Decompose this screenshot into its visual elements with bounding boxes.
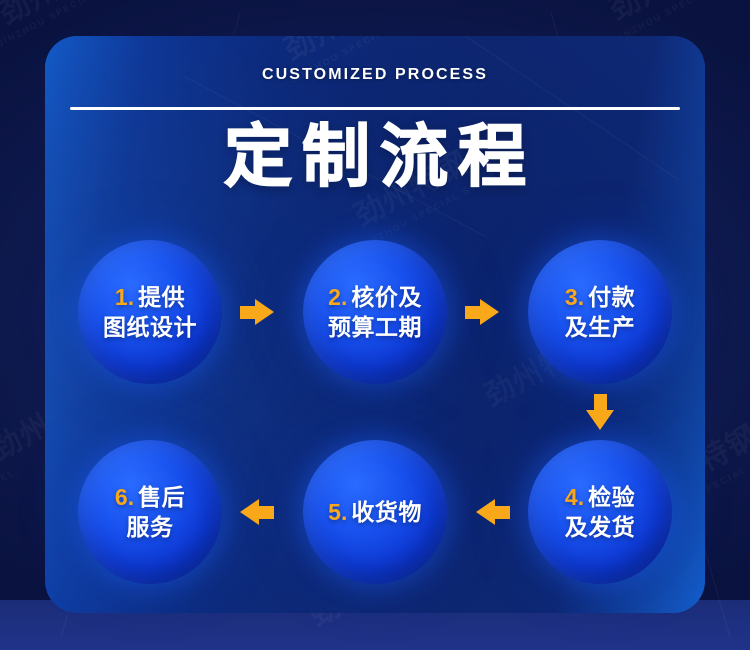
process-step-3[interactable]: 3.付款 及生产 bbox=[528, 240, 672, 384]
process-flow-diagram: 1.提供 图纸设计 2.核价及 预算工期 3.付款 及生产 4.检验 及发货 5… bbox=[0, 0, 750, 650]
step-number: 4. bbox=[565, 484, 584, 510]
process-step-2[interactable]: 2.核价及 预算工期 bbox=[303, 240, 447, 384]
arrow-shaft bbox=[493, 506, 510, 519]
step-line-2: 服务 bbox=[127, 512, 174, 542]
step-text: 核价及 bbox=[351, 284, 422, 310]
arrow-head bbox=[476, 499, 495, 525]
arrow-head bbox=[586, 410, 614, 430]
step-line-2: 图纸设计 bbox=[103, 312, 197, 342]
step-number: 5. bbox=[328, 499, 347, 525]
step-number: 2. bbox=[328, 284, 347, 310]
process-step-1[interactable]: 1.提供 图纸设计 bbox=[78, 240, 222, 384]
arrow-left-icon bbox=[476, 497, 510, 527]
arrow-head bbox=[255, 299, 274, 325]
arrow-right-icon bbox=[240, 297, 274, 327]
step-line-2: 及发货 bbox=[565, 512, 636, 542]
step-line-2: 及生产 bbox=[565, 312, 636, 342]
arrow-head bbox=[240, 499, 259, 525]
arrow-shaft bbox=[257, 506, 274, 519]
step-line-1: 6.售后 bbox=[115, 482, 185, 512]
step-text: 付款 bbox=[588, 284, 635, 310]
step-line-1: 5.收货物 bbox=[328, 497, 422, 527]
step-line-2: 预算工期 bbox=[328, 312, 422, 342]
step-line-1: 2.核价及 bbox=[328, 282, 422, 312]
step-line-1: 4.检验 bbox=[565, 482, 635, 512]
process-step-4[interactable]: 4.检验 及发货 bbox=[528, 440, 672, 584]
process-step-6[interactable]: 6.售后 服务 bbox=[78, 440, 222, 584]
step-number: 3. bbox=[565, 284, 584, 310]
step-number: 6. bbox=[115, 484, 134, 510]
step-text: 检验 bbox=[588, 484, 635, 510]
step-text: 提供 bbox=[138, 284, 185, 310]
arrow-right-icon bbox=[465, 297, 499, 327]
step-text: 售后 bbox=[138, 484, 185, 510]
arrow-down-icon bbox=[585, 394, 615, 430]
step-number: 1. bbox=[115, 284, 134, 310]
process-step-5[interactable]: 5.收货物 bbox=[303, 440, 447, 584]
arrow-left-icon bbox=[240, 497, 274, 527]
arrow-head bbox=[480, 299, 499, 325]
step-line-1: 1.提供 bbox=[115, 282, 185, 312]
step-text: 收货物 bbox=[351, 499, 422, 525]
step-line-1: 3.付款 bbox=[565, 282, 635, 312]
